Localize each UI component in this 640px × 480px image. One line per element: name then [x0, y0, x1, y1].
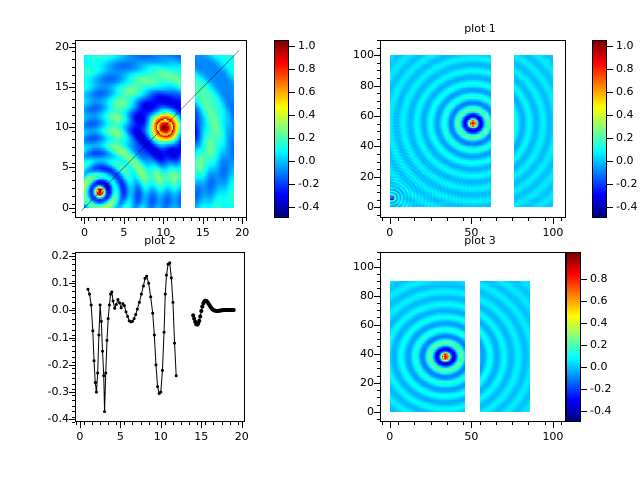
- data-point: [134, 313, 137, 316]
- y-minor-tick: [72, 373, 75, 374]
- y-minor-tick: [377, 361, 380, 362]
- colorbar-tick-label: 0.6: [616, 85, 634, 98]
- y-major-tick: [69, 338, 75, 339]
- y-minor-tick: [72, 291, 75, 292]
- y-minor-tick: [377, 310, 380, 311]
- y-minor-tick: [72, 400, 75, 401]
- y-minor-tick: [377, 332, 380, 333]
- x-minor-tick: [382, 218, 383, 221]
- y-minor-tick: [377, 368, 380, 369]
- x-minor-tick: [463, 422, 464, 425]
- data-point: [94, 381, 97, 384]
- subplot-bottom-right: plot 3 050100020406080100 -0.4-0.20.00.2…: [320, 230, 640, 480]
- colorbar-tick-label: 0.4: [616, 108, 634, 121]
- y-minor-tick: [72, 259, 75, 260]
- subplot-top-right: plot 1 050100020406080100 -0.4-0.20.00.2…: [320, 18, 640, 240]
- colorbar-tick: [289, 207, 295, 208]
- y-minor-tick: [72, 67, 75, 68]
- y-major-tick: [69, 208, 75, 209]
- colorbar-tick-label: 0.2: [616, 131, 634, 144]
- colorbar-tick-label: 0.8: [590, 272, 608, 285]
- x-minor-tick: [173, 422, 174, 425]
- y-tick-label: 0: [324, 405, 374, 418]
- data-point: [136, 308, 139, 311]
- colorbar-tick: [607, 207, 613, 208]
- plot3-title: plot 3: [320, 234, 640, 247]
- y-minor-tick: [72, 188, 75, 189]
- y-minor-tick: [377, 116, 380, 117]
- y-major-tick: [69, 127, 75, 128]
- plot3-image-right: [480, 281, 531, 412]
- x-minor-tick: [463, 218, 464, 221]
- data-point: [120, 306, 123, 309]
- x-minor-tick: [512, 422, 513, 425]
- colorbar-tick-label: -0.2: [616, 177, 637, 190]
- x-tick-label: 0: [368, 430, 412, 443]
- data-point: [125, 310, 128, 313]
- y-major-tick: [69, 365, 75, 366]
- y-minor-tick: [377, 48, 380, 49]
- y-tick-label: 5: [19, 160, 69, 173]
- colorbar-tick: [607, 184, 613, 185]
- y-minor-tick: [377, 383, 380, 384]
- y-minor-tick: [72, 131, 75, 132]
- y-minor-tick: [377, 346, 380, 347]
- y-minor-tick: [377, 185, 380, 186]
- y-minor-tick: [72, 411, 75, 412]
- data-point: [116, 298, 119, 301]
- y-minor-tick: [72, 351, 75, 352]
- y-tick-label: -0.4: [19, 412, 69, 425]
- y-minor-tick: [377, 146, 380, 147]
- y-tick-label: 40: [324, 139, 374, 152]
- y-major-tick: [69, 419, 75, 420]
- y-minor-tick: [72, 75, 75, 76]
- x-minor-tick: [238, 422, 239, 425]
- colorbar-tick-label: -0.4: [590, 404, 611, 417]
- plot0-colorbar: -0.4-0.20.00.20.40.60.81.0: [274, 40, 289, 218]
- x-major-tick: [201, 422, 202, 428]
- y-minor-tick: [72, 196, 75, 197]
- y-minor-tick: [377, 303, 380, 304]
- x-minor-tick: [116, 422, 117, 425]
- y-minor-tick: [377, 339, 380, 340]
- x-tick-label: 50: [449, 430, 493, 443]
- y-minor-tick: [377, 101, 380, 102]
- colorbar-tick-label: 0.0: [590, 360, 608, 373]
- y-minor-tick: [377, 177, 380, 178]
- y-minor-tick: [72, 43, 75, 44]
- x-minor-tick: [81, 218, 82, 221]
- data-point: [198, 314, 202, 318]
- data-point: [113, 307, 116, 310]
- data-point: [197, 319, 201, 323]
- colorbar-tick-label: 0.2: [298, 131, 316, 144]
- colorbar-tick-label: -0.4: [298, 200, 319, 213]
- y-minor-tick: [377, 124, 380, 125]
- colorbar-tick: [289, 161, 295, 162]
- data-point: [232, 308, 236, 312]
- y-major-tick: [69, 310, 75, 311]
- y-minor-tick: [377, 274, 380, 275]
- x-major-tick: [203, 218, 204, 224]
- x-minor-tick: [561, 218, 562, 221]
- y-minor-tick: [377, 419, 380, 420]
- diagonal-ray-line: [81, 50, 239, 210]
- plot3-colorbar: -0.4-0.20.00.20.40.60.8: [566, 252, 581, 422]
- x-tick-label: 20: [220, 430, 264, 443]
- data-point: [151, 312, 154, 315]
- x-major-tick: [242, 218, 243, 224]
- x-major-tick: [553, 422, 554, 428]
- x-minor-tick: [108, 422, 109, 425]
- y-minor-tick: [72, 155, 75, 156]
- x-tick-label: 100: [531, 430, 575, 443]
- y-minor-tick: [72, 264, 75, 265]
- y-minor-tick: [377, 200, 380, 201]
- y-major-tick: [69, 87, 75, 88]
- markers-segment-2: [191, 299, 235, 327]
- x-minor-tick: [223, 218, 224, 221]
- colorbar-tick: [607, 92, 613, 93]
- plot3-image-left: [390, 281, 465, 412]
- y-tick-label: 10: [19, 120, 69, 133]
- y-minor-tick: [72, 91, 75, 92]
- data-point: [142, 285, 145, 288]
- x-minor-tick: [398, 218, 399, 221]
- x-major-tick: [553, 218, 554, 224]
- x-minor-tick: [149, 422, 150, 425]
- y-minor-tick: [377, 281, 380, 282]
- x-minor-tick: [157, 422, 158, 425]
- colorbar-tick-label: 0.0: [616, 154, 634, 167]
- data-point: [93, 359, 96, 362]
- x-minor-tick: [199, 218, 200, 221]
- data-point: [131, 320, 134, 323]
- data-point: [170, 276, 173, 279]
- y-minor-tick: [72, 340, 75, 341]
- y-tick-label: 0.1: [19, 276, 69, 289]
- x-minor-tick: [222, 422, 223, 425]
- x-minor-tick: [230, 218, 231, 221]
- colorbar-tick: [607, 115, 613, 116]
- y-minor-tick: [72, 346, 75, 347]
- y-minor-tick: [377, 63, 380, 64]
- data-point: [112, 299, 115, 302]
- y-minor-tick: [72, 286, 75, 287]
- data-point: [140, 293, 143, 296]
- data-point: [163, 331, 166, 334]
- x-major-tick: [471, 422, 472, 428]
- x-minor-tick: [152, 218, 153, 221]
- x-minor-tick: [246, 218, 247, 221]
- x-minor-tick: [132, 422, 133, 425]
- colorbar-tick: [581, 345, 587, 346]
- y-minor-tick: [377, 390, 380, 391]
- data-point: [100, 320, 103, 323]
- data-point: [95, 391, 98, 394]
- y-tick-label: 100: [324, 260, 374, 273]
- x-minor-tick: [189, 422, 190, 425]
- colorbar-tick: [289, 92, 295, 93]
- x-minor-tick: [76, 422, 77, 425]
- y-minor-tick: [377, 40, 380, 41]
- data-point: [108, 304, 111, 307]
- y-minor-tick: [72, 378, 75, 379]
- x-minor-tick: [197, 422, 198, 425]
- x-minor-tick: [144, 218, 145, 221]
- data-point: [123, 304, 126, 307]
- y-minor-tick: [377, 139, 380, 140]
- x-tick-label: 0: [58, 430, 102, 443]
- colorbar-tick-label: 0.6: [590, 294, 608, 307]
- y-minor-tick: [72, 330, 75, 331]
- y-minor-tick: [377, 169, 380, 170]
- data-point: [138, 301, 141, 304]
- x-minor-tick: [205, 422, 206, 425]
- x-minor-tick: [561, 422, 562, 425]
- y-minor-tick: [377, 70, 380, 71]
- x-major-tick: [120, 422, 121, 428]
- x-minor-tick: [213, 422, 214, 425]
- data-point: [145, 275, 148, 278]
- y-minor-tick: [72, 270, 75, 271]
- y-tick-label: 80: [324, 79, 374, 92]
- colorbar-tick: [289, 115, 295, 116]
- x-minor-tick: [112, 218, 113, 221]
- x-minor-tick: [88, 218, 89, 221]
- x-major-tick: [84, 218, 85, 224]
- y-minor-tick: [377, 325, 380, 326]
- y-tick-label: 100: [324, 48, 374, 61]
- x-minor-tick: [141, 422, 142, 425]
- y-major-tick: [69, 47, 75, 48]
- colorbar-tick: [581, 323, 587, 324]
- colorbar-tick: [581, 301, 587, 302]
- colorbar-tick-label: 0.0: [298, 154, 316, 167]
- x-minor-tick: [528, 422, 529, 425]
- x-minor-tick: [128, 218, 129, 221]
- data-point: [104, 372, 107, 375]
- y-minor-tick: [377, 86, 380, 87]
- x-minor-tick: [84, 422, 85, 425]
- y-minor-tick: [377, 131, 380, 132]
- y-minor-tick: [72, 368, 75, 369]
- y-minor-tick: [72, 147, 75, 148]
- data-point: [164, 293, 167, 296]
- data-point: [153, 333, 156, 336]
- data-point: [115, 303, 118, 306]
- colorbar-tick-label: -0.2: [590, 382, 611, 395]
- x-major-tick: [390, 218, 391, 224]
- y-major-tick: [69, 283, 75, 284]
- colorbar-tick-label: -0.4: [616, 200, 637, 213]
- x-minor-tick: [181, 422, 182, 425]
- colorbar-tick: [581, 279, 587, 280]
- x-minor-tick: [191, 218, 192, 221]
- x-minor-tick: [207, 218, 208, 221]
- y-tick-label: 60: [324, 109, 374, 122]
- line-path-segment-1: [88, 263, 176, 412]
- colorbar-tick: [289, 184, 295, 185]
- y-minor-tick: [377, 154, 380, 155]
- colorbar-tick: [581, 411, 587, 412]
- data-point: [96, 372, 99, 375]
- x-minor-tick: [431, 422, 432, 425]
- y-minor-tick: [377, 192, 380, 193]
- y-minor-tick: [377, 55, 380, 56]
- x-tick-label: 15: [179, 430, 223, 443]
- x-minor-tick: [496, 218, 497, 221]
- y-minor-tick: [72, 107, 75, 108]
- data-point: [126, 315, 129, 318]
- y-minor-tick: [377, 296, 380, 297]
- y-minor-tick: [377, 252, 380, 253]
- data-point: [90, 304, 93, 307]
- y-minor-tick: [72, 297, 75, 298]
- subplot-top-left: 0510152005101520 -0.4-0.20.00.20.40.60.8…: [0, 18, 320, 240]
- y-tick-label: 0.0: [19, 303, 69, 316]
- x-minor-tick: [96, 218, 97, 221]
- x-minor-tick: [183, 218, 184, 221]
- y-tick-label: 0: [19, 201, 69, 214]
- data-point: [165, 274, 168, 277]
- x-tick-label: 5: [98, 430, 142, 443]
- x-minor-tick: [545, 422, 546, 425]
- x-minor-tick: [92, 422, 93, 425]
- x-major-tick: [242, 422, 243, 428]
- colorbar-tick-label: 0.4: [298, 108, 316, 121]
- data-point: [101, 350, 104, 353]
- y-minor-tick: [377, 405, 380, 406]
- y-minor-tick: [72, 357, 75, 358]
- y-minor-tick: [72, 319, 75, 320]
- x-major-tick: [80, 422, 81, 428]
- plot1-colorbar: -0.4-0.20.00.20.40.60.81.0: [592, 40, 607, 218]
- data-point: [105, 339, 108, 342]
- y-tick-label: 40: [324, 347, 374, 360]
- plot3-colorbar-gradient: [566, 252, 581, 422]
- data-point: [118, 301, 121, 304]
- y-minor-tick: [377, 108, 380, 109]
- x-tick-label: 10: [139, 430, 183, 443]
- y-tick-label: -0.1: [19, 331, 69, 344]
- colorbar-tick-label: 0.6: [298, 85, 316, 98]
- subplot-bottom-left: plot 2 05101520-0.4-0.3-0.2-0.10.00.10.2: [0, 230, 320, 480]
- y-minor-tick: [377, 207, 380, 208]
- plot1-colorbar-gradient: [592, 40, 607, 218]
- x-major-tick: [471, 218, 472, 224]
- x-minor-tick: [545, 218, 546, 221]
- y-minor-tick: [377, 78, 380, 79]
- x-minor-tick: [230, 422, 231, 425]
- y-tick-label: 15: [19, 80, 69, 93]
- y-minor-tick: [72, 123, 75, 124]
- y-minor-tick: [72, 99, 75, 100]
- colorbar-tick-label: 1.0: [298, 39, 316, 52]
- colorbar-tick: [607, 161, 613, 162]
- plot1-image-left: [390, 55, 491, 207]
- data-point: [149, 295, 152, 298]
- plot1-title: plot 1: [320, 22, 640, 35]
- x-minor-tick: [159, 218, 160, 221]
- y-minor-tick: [377, 162, 380, 163]
- y-minor-tick: [72, 302, 75, 303]
- x-minor-tick: [447, 422, 448, 425]
- data-point: [199, 309, 203, 313]
- colorbar-tick-label: 1.0: [616, 39, 634, 52]
- y-minor-tick: [72, 83, 75, 84]
- y-tick-label: 60: [324, 318, 374, 331]
- data-point: [86, 288, 89, 291]
- y-minor-tick: [72, 395, 75, 396]
- x-minor-tick: [480, 422, 481, 425]
- y-minor-tick: [377, 288, 380, 289]
- data-point: [88, 293, 91, 296]
- data-point: [173, 342, 176, 345]
- data-point: [147, 282, 150, 285]
- y-tick-label: -0.2: [19, 358, 69, 371]
- y-minor-tick: [72, 253, 75, 254]
- y-minor-tick: [72, 313, 75, 314]
- data-point: [161, 369, 164, 372]
- x-minor-tick: [431, 218, 432, 221]
- data-point: [168, 261, 171, 264]
- y-minor-tick: [72, 417, 75, 418]
- y-tick-label: 20: [19, 40, 69, 53]
- data-point: [175, 374, 178, 377]
- y-tick-label: 20: [324, 376, 374, 389]
- data-point: [99, 304, 102, 307]
- y-tick-label: 0: [324, 200, 374, 213]
- y-minor-tick: [72, 51, 75, 52]
- y-tick-label: -0.3: [19, 385, 69, 398]
- colorbar-tick-label: 0.4: [590, 316, 608, 329]
- y-minor-tick: [377, 93, 380, 94]
- y-minor-tick: [72, 180, 75, 181]
- y-minor-tick: [72, 335, 75, 336]
- data-point: [156, 385, 159, 388]
- y-minor-tick: [72, 324, 75, 325]
- y-tick-label: 80: [324, 289, 374, 302]
- x-minor-tick: [167, 218, 168, 221]
- y-tick-label: 20: [324, 170, 374, 183]
- data-point: [91, 329, 94, 332]
- y-minor-tick: [72, 163, 75, 164]
- colorbar-tick: [607, 138, 613, 139]
- y-minor-tick: [377, 397, 380, 398]
- plot0-colorbar-gradient: [274, 40, 289, 218]
- y-minor-tick: [377, 317, 380, 318]
- y-minor-tick: [72, 281, 75, 282]
- x-minor-tick: [528, 218, 529, 221]
- colorbar-tick: [289, 46, 295, 47]
- figure-canvas: 0510152005101520 -0.4-0.20.00.20.40.60.8…: [0, 0, 640, 480]
- y-minor-tick: [72, 171, 75, 172]
- colorbar-tick: [289, 69, 295, 70]
- colorbar-tick-label: 0.2: [590, 338, 608, 351]
- y-minor-tick: [377, 354, 380, 355]
- y-minor-tick: [72, 115, 75, 116]
- data-point: [159, 391, 162, 394]
- plot1-image-right: [514, 55, 553, 207]
- y-minor-tick: [72, 275, 75, 276]
- x-minor-tick: [100, 422, 101, 425]
- x-major-tick: [124, 218, 125, 224]
- x-minor-tick: [238, 218, 239, 221]
- data-point: [107, 317, 110, 320]
- y-major-tick: [69, 256, 75, 257]
